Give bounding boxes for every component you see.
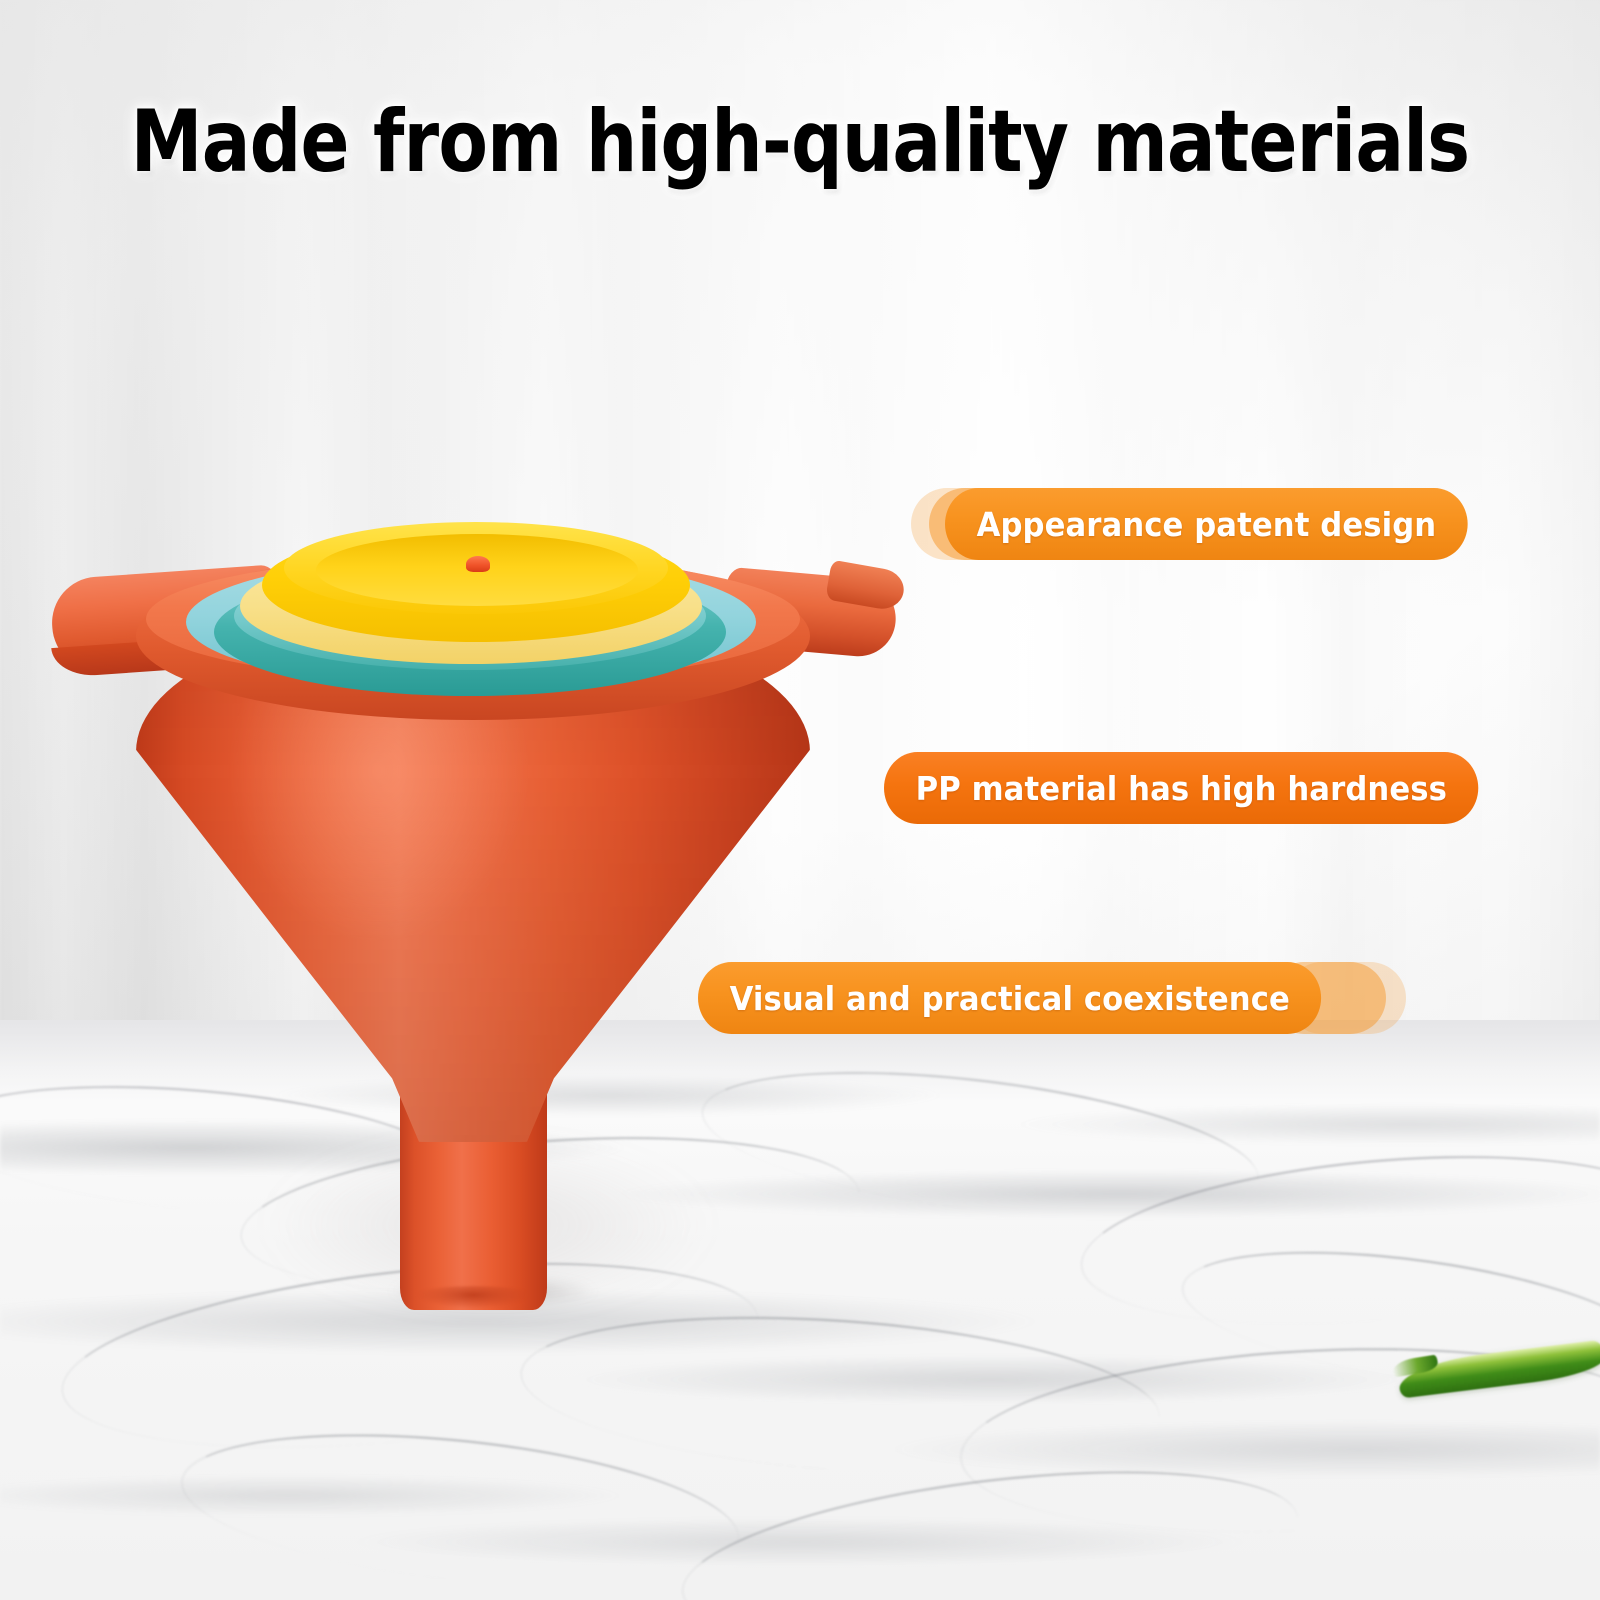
funnel-stem-base-shadow — [400, 1286, 547, 1316]
badge-label: Appearance patent design — [945, 488, 1468, 560]
feature-badge-appearance-patent-design[interactable]: Appearance patent design — [945, 488, 1507, 560]
funnel-spout-nub — [466, 556, 490, 572]
feature-badge-pp-material-hardness[interactable]: PP material has high hardness — [884, 752, 1523, 824]
product-image-funnel-set — [48, 500, 888, 1320]
page-title: Made from high-quality materials — [128, 96, 1472, 188]
badge-label: PP material has high hardness — [884, 752, 1479, 824]
feature-badge-visual-practical-coexistence[interactable]: Visual and practical coexistence — [698, 962, 1368, 1034]
product-banner: Made from high-quality materials Appeara… — [0, 0, 1600, 1600]
badge-label: Visual and practical coexistence — [698, 962, 1322, 1034]
